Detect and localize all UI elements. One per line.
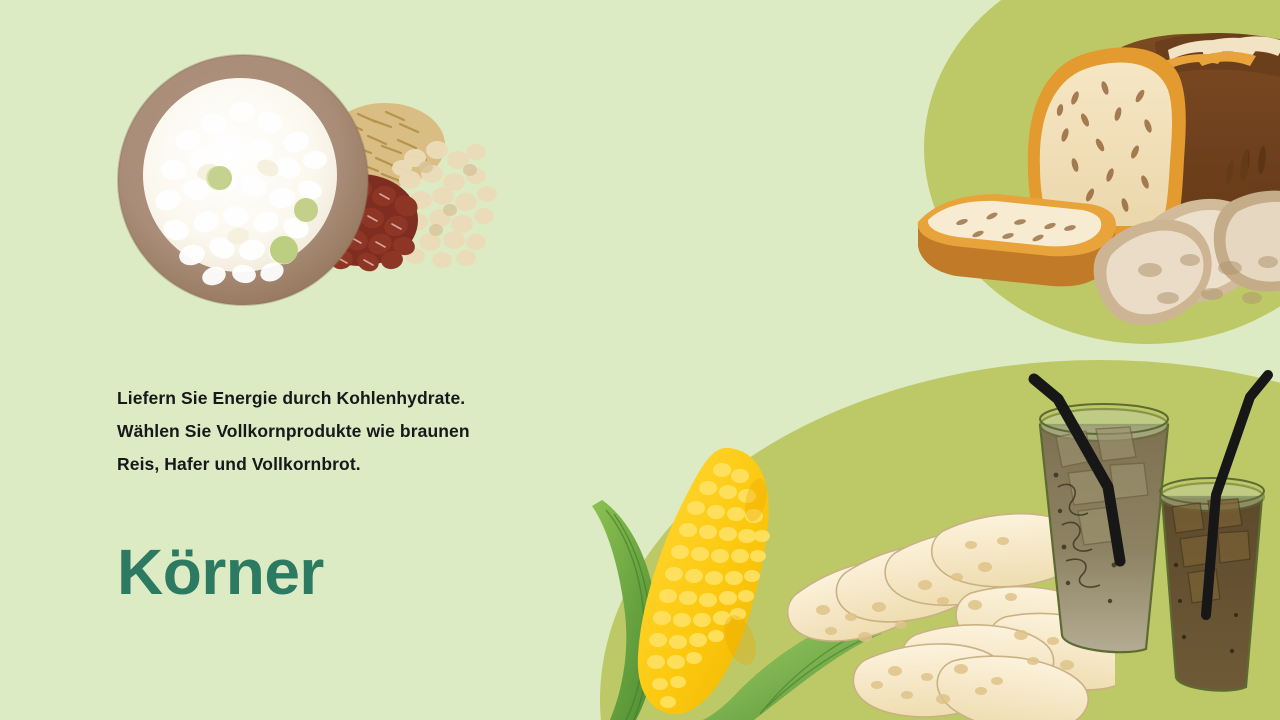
body-line-2: Wählen Sie Vollkornprodukte wie braunen <box>117 415 537 448</box>
bread-slice-lying <box>918 194 1116 286</box>
body-copy: Liefern Sie Energie durch Kohlenhydrate.… <box>117 382 537 481</box>
iced-drinks-illustration <box>1010 365 1280 720</box>
slide-canvas: Liefern Sie Energie durch Kohlenhydrate.… <box>0 0 1280 720</box>
iced-drink-large <box>1034 379 1168 652</box>
page-title: Körner <box>117 536 324 608</box>
body-line-3: Reis, Hafer und Vollkornbrot. <box>117 448 537 481</box>
bowl-of-rice-with-grains-illustration <box>110 50 510 310</box>
body-line-1: Liefern Sie Energie durch Kohlenhydrate. <box>117 382 537 415</box>
iced-drink-small <box>1160 375 1268 691</box>
wholegrain-bread-illustration <box>900 10 1280 330</box>
rice-bowl <box>118 55 368 305</box>
corn-cob <box>638 448 771 714</box>
